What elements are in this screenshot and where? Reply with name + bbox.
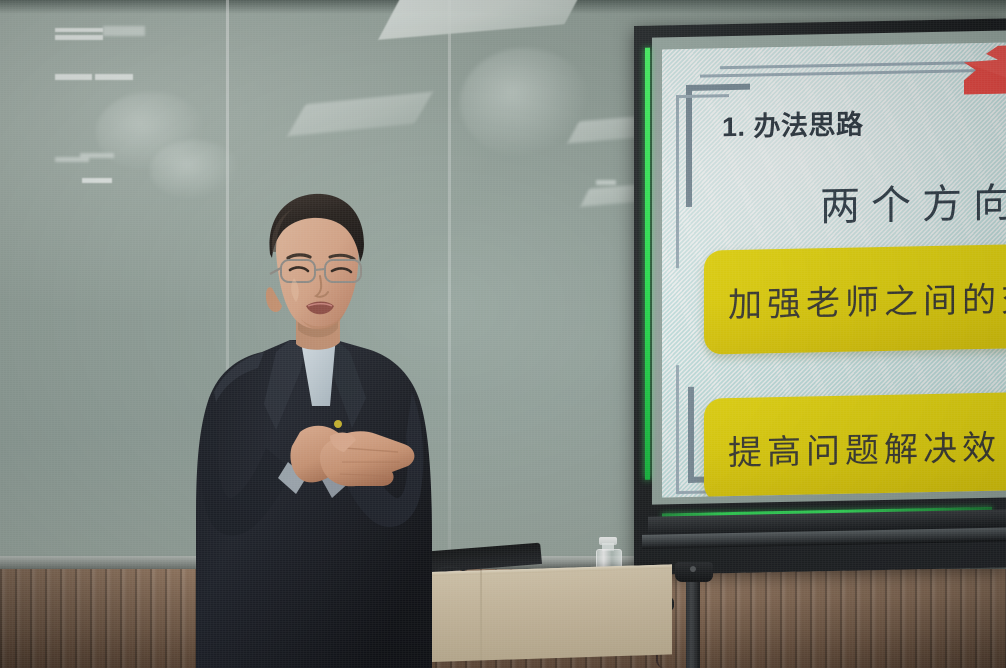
presentation-slide: 1. 办法思路 两个方向 加强老师之间的交 提高问题解决效 <box>662 42 1006 497</box>
highlight-box-1-text: 加强老师之间的交 <box>728 271 1006 326</box>
camera-stand-post <box>686 580 700 668</box>
glass-smudge <box>150 140 240 200</box>
slide-subtitle: 两个方向 <box>820 170 1006 232</box>
slide-title: 1. 办法思路 <box>722 102 864 144</box>
interactive-display-screen[interactable]: 1. 办法思路 两个方向 加强老师之间的交 提高问题解决效 <box>634 19 1006 575</box>
glass-smudge <box>460 48 590 158</box>
light-strip-reflection <box>95 74 133 80</box>
screen-indicator-light-left <box>645 48 650 480</box>
light-strip-reflection <box>82 178 112 183</box>
highlight-box-2: 提高问题解决效 <box>704 392 1006 498</box>
classroom-photo-scene: 1. 办法思路 两个方向 加强老师之间的交 提高问题解决效 <box>0 0 1006 668</box>
wooden-lectern <box>240 564 672 668</box>
highlight-box-1: 加强老师之间的交 <box>704 244 1006 355</box>
highlight-box-2-text: 提高问题解决效 <box>728 420 1001 474</box>
light-strip-reflection <box>103 26 145 36</box>
light-strip-reflection <box>596 180 616 185</box>
lectern-panel-seam <box>480 570 482 660</box>
lectern-panel-seam <box>302 576 304 666</box>
light-strip-reflection <box>55 28 103 32</box>
tracking-camera <box>675 562 713 582</box>
camera-lens <box>690 566 696 572</box>
whiteboard-seam <box>448 0 451 560</box>
light-strip-reflection <box>55 74 92 80</box>
whiteboard-seam <box>226 0 229 560</box>
light-strip-reflection <box>55 35 103 40</box>
